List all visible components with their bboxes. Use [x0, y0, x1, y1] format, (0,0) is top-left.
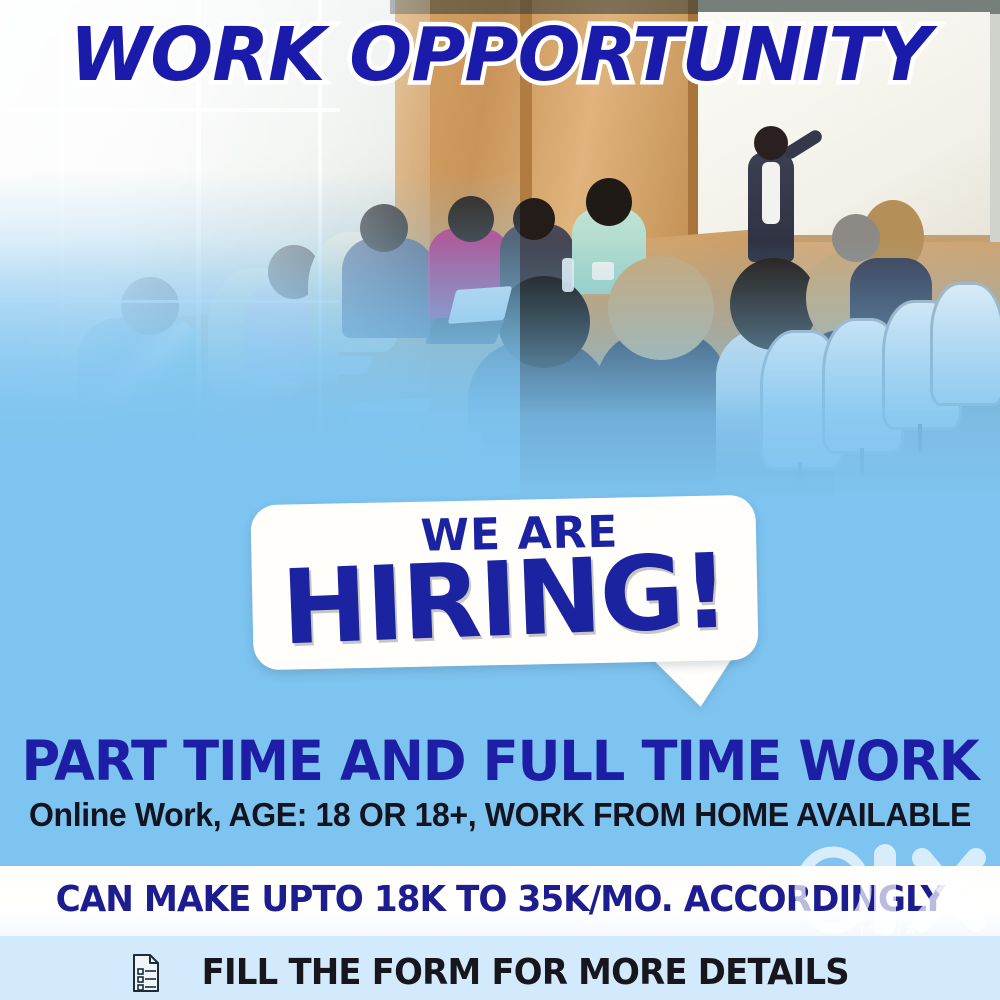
- hiring-poster: WORK OPPORTUNITY WE ARE HIRING! PART TIM…: [0, 0, 1000, 1000]
- headline-text: PART TIME AND FULL TIME WORK: [20, 733, 980, 789]
- poster-title: WORK OPPORTUNITY: [0, 18, 1000, 92]
- presenter-head: [754, 126, 788, 160]
- subheadline-text: Online Work, AGE: 18 OR 18+, WORK FROM H…: [15, 797, 985, 833]
- pay-line-text: CAN MAKE UPTO 18K TO 35K/MO. ACCORDINGLY: [25, 879, 975, 921]
- presenter-blouse: [762, 162, 780, 224]
- hiring-text: HIRING!: [250, 538, 759, 661]
- person-mint-head: [586, 178, 632, 226]
- form-document-icon: [131, 952, 165, 994]
- photo-bottom-fade-left: [0, 170, 520, 500]
- cta-text: FILL THE FORM FOR MORE DETAILS: [201, 953, 848, 993]
- cta-row: FILL THE FORM FOR MORE DETAILS: [0, 952, 1000, 994]
